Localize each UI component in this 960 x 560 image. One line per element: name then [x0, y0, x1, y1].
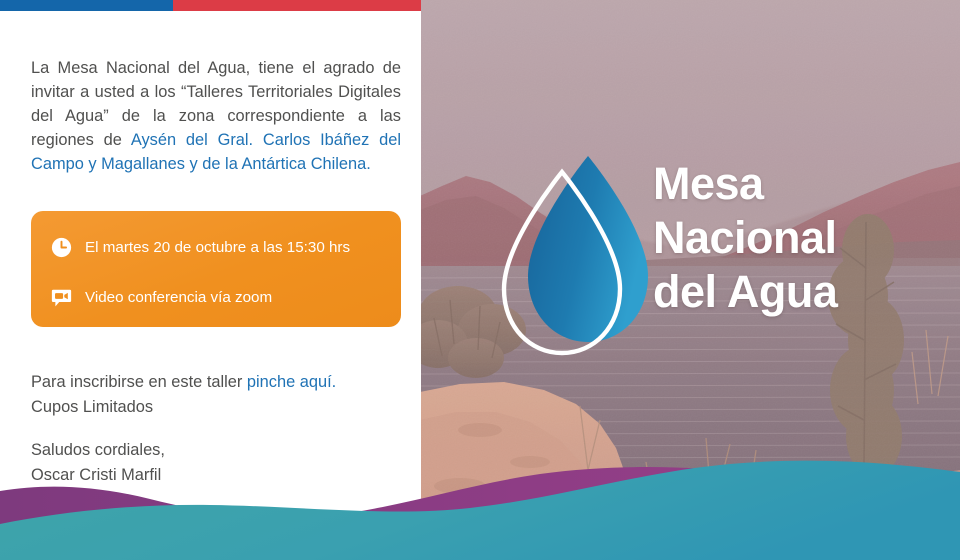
video-chat-icon — [51, 287, 72, 308]
signup-prefix: Para inscribirse en este taller — [31, 373, 247, 391]
signup-line: Para inscribirse en este taller pinche a… — [31, 370, 411, 395]
brand-title-line2: Nacional — [653, 211, 837, 265]
bottom-waves — [0, 450, 960, 560]
event-details-card: El martes 20 de octubre a las 15:30 hrs … — [31, 211, 401, 327]
intro-paragraph: La Mesa Nacional del Agua, tiene el agra… — [31, 56, 401, 176]
topbar — [0, 0, 421, 11]
event-date-row: El martes 20 de octubre a las 15:30 hrs — [51, 237, 350, 258]
event-date-text: El martes 20 de octubre a las 15:30 hrs — [85, 239, 350, 256]
topbar-blue-segment — [0, 0, 173, 11]
topbar-red-segment — [173, 0, 421, 11]
drop-fill-shape — [528, 156, 648, 342]
signup-note: Cupos Limitados — [31, 395, 411, 420]
invitation-poster: La Mesa Nacional del Agua, tiene el agra… — [0, 0, 960, 560]
brand-title: Mesa Nacional del Agua — [653, 157, 837, 319]
event-channel-row: Video conferencia vía zoom — [51, 287, 272, 308]
event-channel-text: Video conferencia vía zoom — [85, 289, 272, 306]
brand-title-line1: Mesa — [653, 157, 837, 211]
clock-icon — [51, 237, 72, 258]
teal-wave — [0, 461, 960, 560]
signup-link[interactable]: pinche aquí. — [247, 373, 336, 391]
signup-block: Para inscribirse en este taller pinche a… — [31, 370, 411, 420]
water-drop-logo — [490, 150, 680, 365]
brand-title-line3: del Agua — [653, 265, 837, 319]
